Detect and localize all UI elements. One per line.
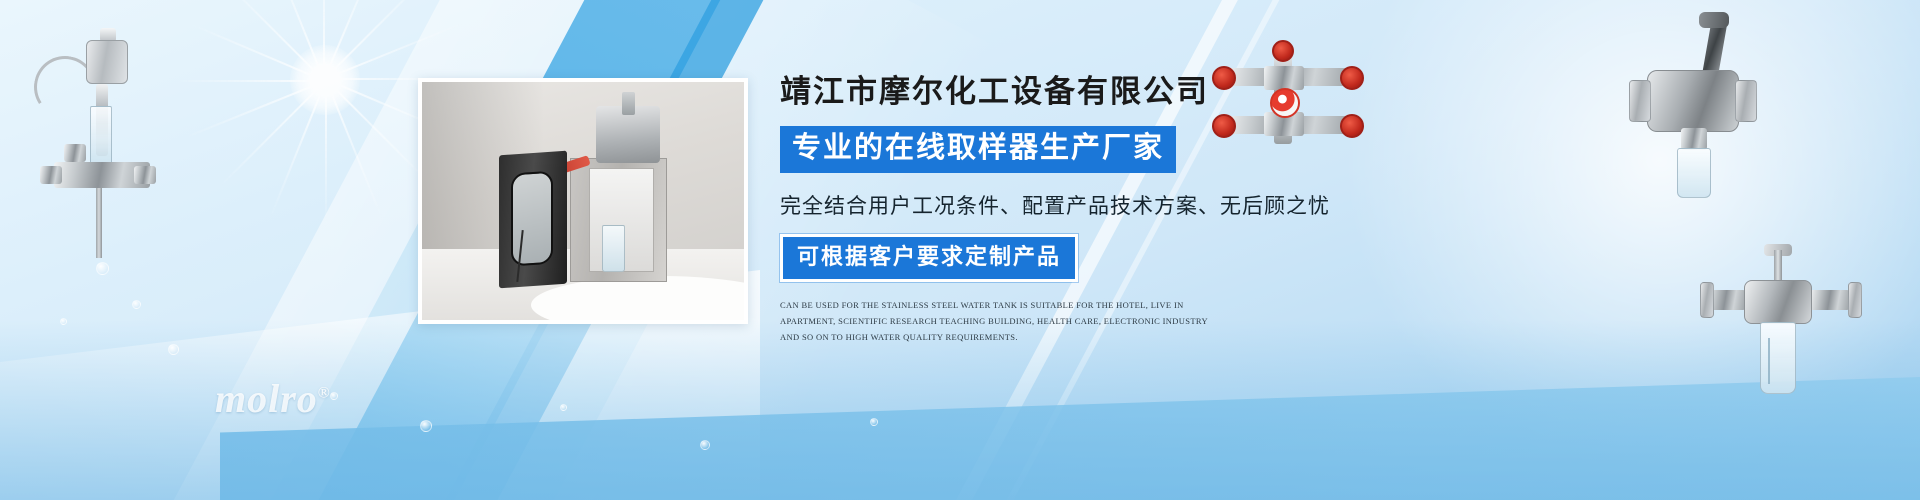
bubble-decor: [132, 300, 141, 309]
sight-valve-stem: [1774, 250, 1782, 284]
subline-text: 完全结合用户工况条件、配置产品技术方案、无后顾之忧: [780, 190, 1420, 220]
valve-flange-left: [1629, 80, 1651, 122]
product-sight-glass-valve: [1700, 250, 1865, 425]
sight-valve-glass-tube: [1760, 322, 1796, 394]
valve-flange-right: [1735, 80, 1757, 122]
sight-valve-glass-line: [1768, 338, 1770, 384]
promo-banner: 靖江市摩尔化工设备有限公司 专业的在线取样器生产厂家 完全结合用户工况条件、配置…: [0, 0, 1920, 500]
product-pole-mounted-sampler: [10, 22, 160, 262]
handwheel-left-upper: [1212, 66, 1236, 90]
sampler-valve-upper: [64, 144, 86, 162]
product-lever-handle-valve: [1625, 18, 1770, 223]
brand-watermark: molro®: [215, 375, 331, 422]
bubble-decor: [700, 440, 710, 450]
bubble-decor: [168, 344, 179, 355]
handwheel-left-lower: [1212, 114, 1236, 138]
bubble-decor: [420, 420, 432, 432]
valve-sight-glass: [1677, 148, 1711, 198]
handwheel-right-upper: [1340, 66, 1364, 90]
watermark-registered-mark: ®: [318, 385, 331, 402]
bubble-decor: [60, 318, 67, 325]
custom-order-badge: 可根据客户要求定制产品: [780, 234, 1078, 282]
online-sampler-cabinet-photo: [422, 82, 744, 320]
sampler-valve-left: [40, 166, 62, 184]
sampler-sight-glass: [90, 106, 112, 164]
valve-neck: [1681, 128, 1707, 150]
bubble-decor: [96, 262, 109, 275]
custom-row: 可根据客户要求定制产品: [780, 234, 1420, 282]
handwheel-top: [1272, 40, 1294, 62]
valve-body: [1647, 70, 1739, 132]
handwheel-right-lower: [1340, 114, 1364, 138]
english-description: Can be used for the stainless steel wate…: [780, 298, 1210, 345]
sight-valve-flange-right: [1848, 282, 1862, 318]
sampler-cylinder: [86, 40, 128, 84]
sampler-pole: [96, 188, 102, 258]
sight-valve-arm-right: [1810, 290, 1850, 310]
sight-valve-flange-left: [1700, 282, 1714, 318]
headline-badge: 专业的在线取样器生产厂家: [780, 126, 1176, 173]
bubble-decor: [560, 404, 567, 411]
valve-lever-grip: [1699, 12, 1729, 28]
sight-valve-body: [1744, 280, 1812, 324]
bubble-decor: [330, 392, 338, 400]
product-cross-valve-manifold: [1208, 40, 1378, 150]
product-photo-frame: [418, 78, 748, 324]
bubble-decor: [870, 418, 878, 426]
watermark-text: molro: [215, 376, 318, 421]
cross-valve-seal: [1270, 88, 1300, 118]
sampler-valve-right: [134, 166, 156, 184]
cross-valve-body-upper: [1264, 66, 1304, 90]
